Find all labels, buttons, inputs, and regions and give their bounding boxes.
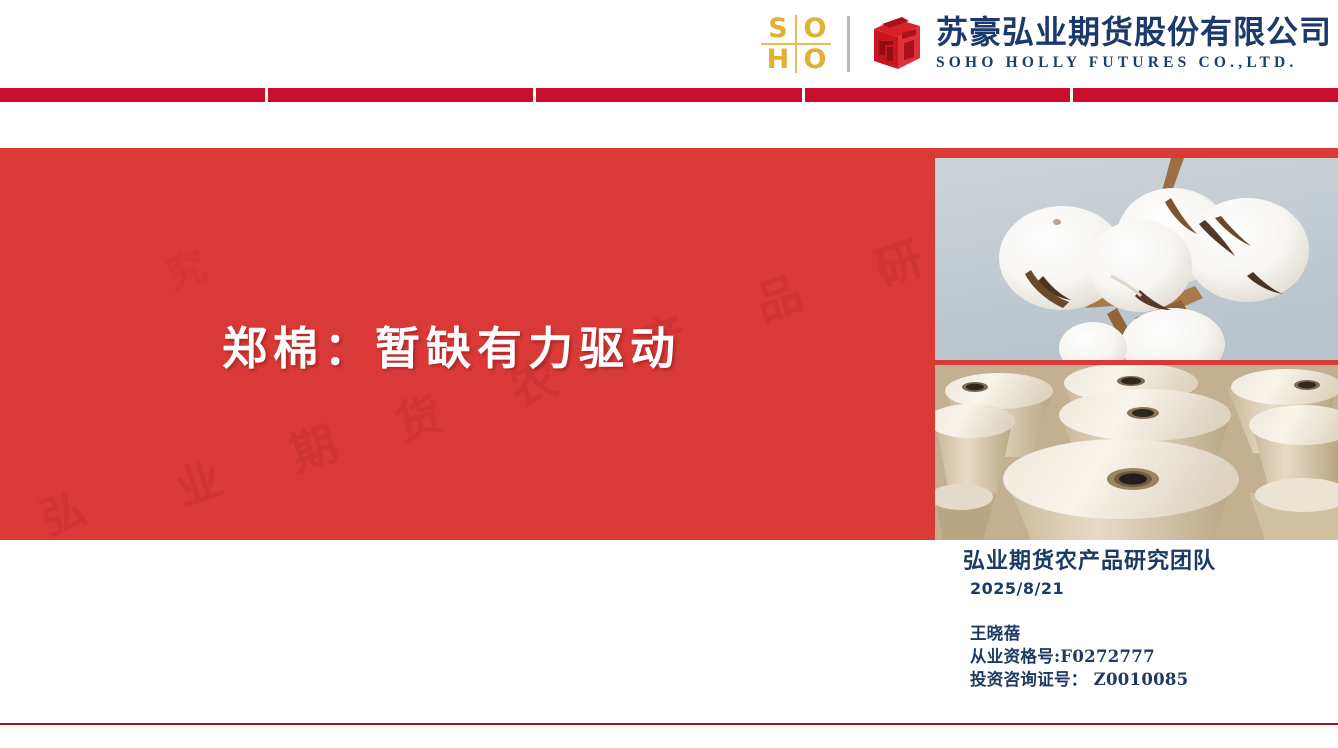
header-logo-bar: S O H O	[0, 0, 1338, 88]
rule-segment	[536, 88, 801, 102]
analyst-info: 王晓蓓 从业资格号:F0272777 投资咨询证号： Z0010085	[970, 622, 1216, 692]
rule-segment	[1073, 88, 1338, 102]
footer-credits: 弘业期货农产品研究团队 2025/8/21 王晓蓓 从业资格号:F0272777…	[963, 548, 1216, 692]
company-name-en: SOHO HOLLY FUTURES CO.,LTD.	[936, 54, 1332, 73]
analyst-consulting-number: 投资咨询证号： Z0010085	[970, 668, 1216, 691]
soho-letter-o-bottom: O	[796, 44, 833, 75]
header-accent-rule	[0, 88, 1338, 102]
report-date: 2025/8/21	[970, 579, 1216, 598]
vertical-divider-icon	[847, 16, 850, 72]
soho-grid-logo-icon: S O H O	[759, 13, 833, 75]
rule-segment	[268, 88, 533, 102]
soho-letter-o-top: O	[796, 13, 833, 44]
rule-segment	[805, 88, 1070, 102]
company-name-block: 苏豪弘业期货股份有限公司 SOHO HOLLY FUTURES CO.,LTD.	[936, 16, 1332, 72]
yarn-cones-photo	[935, 365, 1338, 540]
red-gift-box-logo-icon	[862, 13, 924, 75]
slide-title: 郑棉：暂缺有力驱动	[0, 148, 938, 540]
footer-accent-rule	[0, 723, 1338, 725]
company-logo: S O H O	[759, 6, 1332, 82]
slide-title-text: 郑棉：暂缺有力驱动	[222, 312, 681, 377]
presentation-slide: S O H O	[0, 0, 1338, 748]
soho-letter-s: S	[759, 13, 796, 44]
rule-segment	[0, 88, 265, 102]
company-name-cn: 苏豪弘业期货股份有限公司	[936, 16, 1332, 50]
cotton-bolls-photo	[935, 158, 1338, 360]
analyst-practice-number: 从业资格号:F0272777	[970, 645, 1216, 668]
research-team-name: 弘业期货农产品研究团队	[963, 548, 1216, 576]
soho-grid-hline	[761, 43, 831, 45]
analyst-name: 王晓蓓	[970, 622, 1216, 645]
soho-letter-h: H	[759, 44, 796, 75]
